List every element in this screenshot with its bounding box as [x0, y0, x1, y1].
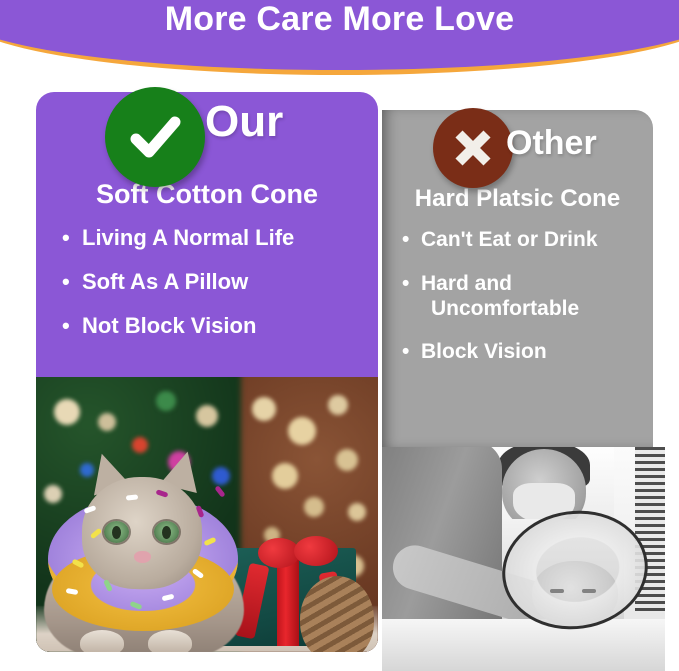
list-item-label: Can't Eat or Drink — [421, 228, 598, 251]
other-product-photo — [382, 447, 665, 671]
page-title: More Care More Love — [0, 2, 679, 36]
cat-paw — [148, 630, 192, 652]
our-benefit-list: • Living A Normal Life • Soft As A Pillo… — [62, 225, 377, 357]
product-comparison-infographic: Soft Cotton Cone • Living A Normal Life … — [0, 0, 679, 671]
bullet-dot-icon: • — [62, 269, 70, 295]
cat-eye-right — [154, 521, 179, 543]
pinecone — [300, 576, 374, 652]
our-product-photo — [36, 377, 378, 652]
gift-bow-right — [294, 536, 338, 566]
cat-eye-left — [104, 521, 129, 543]
list-item: • Not Block Vision — [62, 313, 377, 339]
list-item: • Soft As A Pillow — [62, 269, 377, 295]
other-subtitle: Hard Platsic Cone — [382, 186, 653, 212]
list-item-label: Not Block Vision — [82, 313, 256, 338]
other-column: Hard Platsic Cone • Can't Eat or Drink •… — [382, 110, 653, 671]
bullet-dot-icon: • — [402, 228, 409, 253]
bullet-dot-icon: • — [62, 313, 70, 339]
check-circle-icon — [105, 87, 205, 187]
list-item: • Hard and Uncomfortable — [402, 272, 654, 322]
bullet-dot-icon: • — [62, 225, 70, 251]
cat-paw — [80, 630, 124, 652]
list-item: • Living A Normal Life — [62, 225, 377, 251]
cat-with-soft-cone — [44, 443, 254, 652]
list-item-label-continued: Uncomfortable — [421, 297, 654, 322]
bullet-dot-icon: • — [402, 340, 409, 365]
our-column: Soft Cotton Cone • Living A Normal Life … — [36, 92, 378, 652]
other-label: Other — [506, 126, 597, 160]
list-item-label: Soft As A Pillow — [82, 269, 248, 294]
cat-nose — [134, 551, 151, 563]
x-circle-icon — [433, 108, 513, 188]
list-item-label: Block Vision — [421, 340, 547, 363]
bullet-dot-icon: • — [402, 272, 409, 297]
other-drawback-list: • Can't Eat or Drink • Hard and Uncomfor… — [402, 228, 654, 384]
vet-clinic-scene — [382, 447, 665, 671]
list-item: • Block Vision — [402, 340, 654, 365]
our-label: Our — [205, 100, 283, 144]
our-subtitle: Soft Cotton Cone — [36, 180, 378, 210]
list-item-label: Hard and — [421, 272, 512, 295]
list-item: • Can't Eat or Drink — [402, 228, 654, 253]
exam-table — [382, 619, 665, 671]
list-item-label: Living A Normal Life — [82, 225, 294, 250]
header-banner: More Care More Love — [0, 0, 679, 75]
